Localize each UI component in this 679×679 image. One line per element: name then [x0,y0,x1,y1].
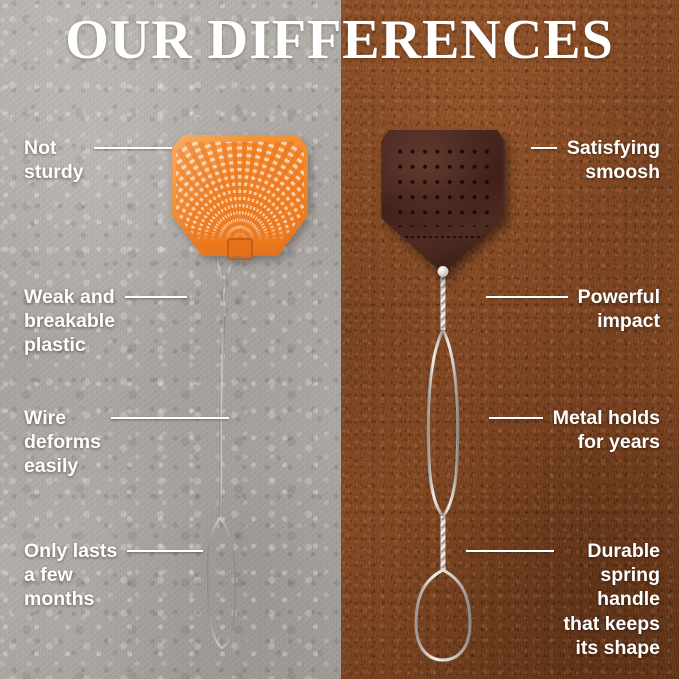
leather-head-perforations [392,142,494,227]
callout-wire-deforms: Wire deforms easily [24,406,229,479]
callout-weak-plastic-text: Weak and breakable plastic [24,285,115,358]
callout-powerful-impact-text: Powerful impact [578,285,660,333]
callout-durable-spring-text: Durable spring handle that keeps its sha… [564,539,660,660]
leader-line-satisfying-smoosh [531,147,557,149]
leather-fly-swatter-head [381,127,505,274]
page-title: OUR DIFFERENCES [0,8,679,72]
leather-head-stitch-line [393,236,492,238]
callout-only-lasts-months: Only lasts a few months [24,539,203,612]
leather-head-body [381,127,505,274]
leader-line-only-lasts-months [127,550,203,552]
leader-line-metal-holds [489,417,543,419]
plastic-fly-swatter-head [172,127,308,261]
leader-line-weak-plastic [125,296,187,298]
callout-metal-holds-text: Metal holds for years [553,406,660,454]
callout-wire-deforms-text: Wire deforms easily [24,406,101,479]
leader-line-wire-deforms [111,417,229,419]
callout-satisfying-smoosh-text: Satisfying smoosh [567,136,660,184]
callout-weak-plastic: Weak and breakable plastic [24,285,187,358]
callout-not-sturdy: Not sturdy [24,136,172,184]
callout-powerful-impact: Powerful impact [486,285,660,333]
callout-satisfying-smoosh: Satisfying smoosh [531,136,660,184]
callout-only-lasts-months-text: Only lasts a few months [24,539,117,612]
leader-line-not-sturdy [94,147,172,149]
infographic-canvas: OUR DIFFERENCES [0,0,679,679]
plastic-head-radial-ribs [172,127,308,240]
plastic-head-wire-socket [227,238,253,260]
callout-durable-spring: Durable spring handle that keeps its sha… [466,539,660,660]
callout-metal-holds: Metal holds for years [489,406,660,454]
leader-line-powerful-impact [486,296,568,298]
leader-line-durable-spring [466,550,554,552]
leather-head-rivet [438,266,449,277]
callout-not-sturdy-text: Not sturdy [24,136,84,184]
